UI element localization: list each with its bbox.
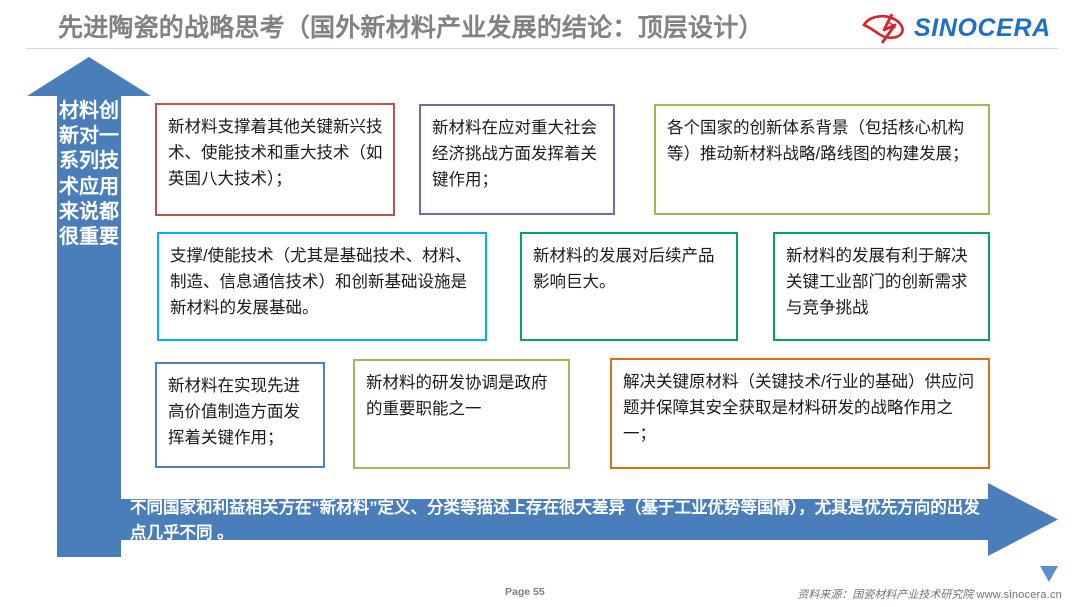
header-divider	[26, 48, 1058, 49]
fact-box-3[interactable]: 各个国家的创新体系背景（包括核心机构等）推动新材料战略/路线图的构建发展；	[654, 104, 990, 215]
arrow-up-head-icon	[27, 57, 151, 96]
bottom-arrow-label: 不同国家和利益相关方在“新材料”定义、分类等描述上存在很大差异（基于工业优势等国…	[130, 496, 990, 546]
fact-box-text: 新材料的发展对后续产品影响巨大。	[533, 243, 728, 295]
brand-logo-text: SINOCERA	[914, 13, 1051, 43]
corner-mark-icon	[1040, 566, 1058, 582]
fact-box-text: 支撑/使能技术（尤其是基础技术、材料、制造、信息通信技术）和创新基础设施是新材料…	[170, 243, 477, 321]
fact-box-2[interactable]: 新材料在应对重大社会经济挑战方面发挥着关键作用；	[419, 104, 615, 215]
source-note: 资料来源：国瓷材料产业技术研究院 www.sinocera.cn	[797, 586, 1062, 602]
fact-box-text: 新材料支撑着其他关键新兴技术、使能技术和重大技术（如英国八大技术）；	[168, 114, 385, 192]
page-title: 先进陶瓷的战略思考（国外新材料产业发展的结论：顶层设计）	[58, 11, 858, 45]
fact-box-7[interactable]: 新材料在实现先进高价值制造方面发挥着关键作用；	[155, 362, 325, 468]
fact-box-text: 解决关键原材料（关键技术/行业的基础）供应问题并保障其安全获取是材料研发的战略作…	[623, 369, 980, 447]
vertical-arrow-banner: 材料创新对一系列技术应用来说都很重要	[27, 57, 151, 557]
fact-box-9[interactable]: 解决关键原材料（关键技术/行业的基础）供应问题并保障其安全获取是材料研发的战略作…	[610, 358, 990, 469]
fact-box-text: 新材料在应对重大社会经济挑战方面发挥着关键作用；	[432, 115, 605, 193]
fact-box-5[interactable]: 新材料的发展对后续产品影响巨大。	[520, 232, 738, 341]
slide-canvas: 先进陶瓷的战略思考（国外新材料产业发展的结论：顶层设计） SINOCERA 材料…	[0, 0, 1080, 607]
fact-box-6[interactable]: 新材料的发展有利于解决关键工业部门的创新需求与竞争挑战	[773, 232, 990, 341]
fact-box-text: 新材料的发展有利于解决关键工业部门的创新需求与竞争挑战	[786, 243, 980, 321]
fact-box-text: 新材料在实现先进高价值制造方面发挥着关键作用；	[168, 373, 315, 451]
fact-box-1[interactable]: 新材料支撑着其他关键新兴技术、使能技术和重大技术（如英国八大技术）；	[155, 103, 395, 216]
source-note-url: www.sinocera.cn	[976, 589, 1062, 601]
page-number: Page 55	[505, 586, 545, 598]
fact-box-text: 新材料的研发协调是政府的重要职能之一	[366, 370, 560, 422]
sinocera-swoosh-icon	[862, 12, 908, 44]
brand-logo: SINOCERA	[862, 10, 1058, 46]
bottom-arrow-banner: 不同国家和利益相关方在“新材料”定义、分类等描述上存在很大差异（基于工业优势等国…	[110, 483, 1058, 556]
fact-box-text: 各个国家的创新体系背景（包括核心机构等）推动新材料战略/路线图的构建发展；	[667, 115, 980, 167]
fact-box-4[interactable]: 支撑/使能技术（尤其是基础技术、材料、制造、信息通信技术）和创新基础设施是新材料…	[157, 232, 487, 341]
fact-box-8[interactable]: 新材料的研发协调是政府的重要职能之一	[353, 359, 570, 469]
source-note-prefix: 资料来源：国瓷材料产业技术研究院	[797, 589, 973, 601]
